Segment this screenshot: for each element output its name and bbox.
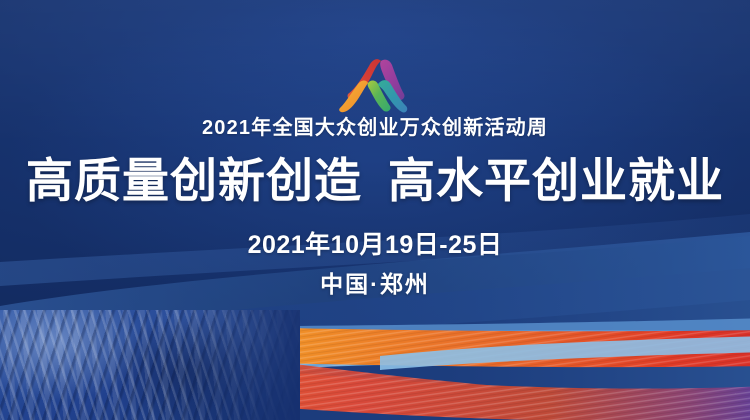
event-subtitle: 2021年全国大众创业万众创新活动周 <box>0 118 750 138</box>
headline-right: 高水平创业就业 <box>388 154 724 207</box>
event-headline: 高质量创新创造高水平创业就业 <box>0 156 750 206</box>
mountain-texture-panel <box>0 310 300 420</box>
event-date: 2021年10月19日-25日 <box>0 233 750 258</box>
poster-text-block: 2021年全国大众创业万众创新活动周 高质量创新创造高水平创业就业 2021年1… <box>0 118 750 296</box>
logo-container <box>0 48 750 114</box>
logo-sweep-orange <box>339 80 368 112</box>
shuangchuang-mountain-logo <box>336 48 414 114</box>
mountain-texture-fade <box>0 310 300 420</box>
event-location: 中国·郑州 <box>0 273 750 296</box>
event-poster: 2021年全国大众创业万众创新活动周 高质量创新创造高水平创业就业 2021年1… <box>0 0 750 420</box>
headline-left: 高质量创新创造 <box>26 154 362 207</box>
